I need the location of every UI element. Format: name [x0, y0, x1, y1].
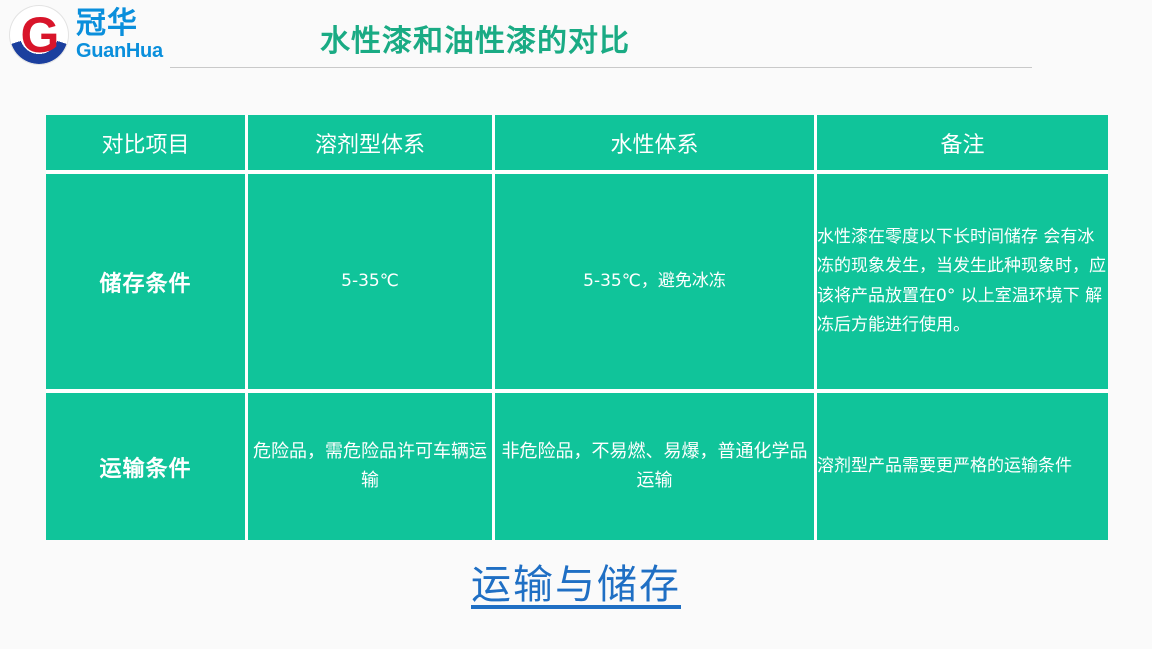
cell-transport-note: 溶剂型产品需要更严格的运输条件 [814, 389, 1108, 540]
slide-caption: 运输与储存 [0, 552, 1152, 610]
brand-name-en: GuanHua [76, 41, 163, 61]
table-row: 运输条件 危险品，需危险品许可车辆运输 非危险品，不易燃、易爆，普通化学品运输 … [46, 389, 1108, 540]
brand-name-cn: 冠华 [76, 9, 163, 39]
brand-logo: G 冠华 GuanHua [8, 4, 163, 66]
comparison-table: 对比项目 溶剂型体系 水性体系 备注 储存条件 5-35℃ 5-35℃，避免冰冻… [46, 115, 1108, 540]
column-header-solvent: 溶剂型体系 [245, 115, 492, 174]
table-row: 储存条件 5-35℃ 5-35℃，避免冰冻 水性漆在零度以下长时间储存 会有冰冻… [46, 174, 1108, 389]
slide-header: G 冠华 GuanHua 水性漆和油性漆的对比 [0, 0, 1152, 80]
page-title: 水性漆和油性漆的对比 [320, 16, 630, 60]
title-divider [170, 67, 1032, 68]
brand-wordmark: 冠华 GuanHua [76, 9, 163, 61]
cell-storage-solvent: 5-35℃ [245, 174, 492, 389]
logo-letter-g: G [8, 4, 70, 66]
column-header-item: 对比项目 [46, 115, 245, 174]
guanhua-circle-logo-icon: G [8, 4, 70, 66]
cell-storage-note: 水性漆在零度以下长时间储存 会有冰冻的现象发生，当发生此种现象时，应该将产品放置… [814, 174, 1108, 389]
table-header-row: 对比项目 溶剂型体系 水性体系 备注 [46, 115, 1108, 174]
row-label-storage: 储存条件 [46, 174, 245, 389]
row-label-transport: 运输条件 [46, 389, 245, 540]
cell-transport-solvent: 危险品，需危险品许可车辆运输 [245, 389, 492, 540]
column-header-waterborne: 水性体系 [492, 115, 814, 174]
caption-link-transport-storage[interactable]: 运输与储存 [471, 562, 681, 608]
column-header-note: 备注 [814, 115, 1108, 174]
cell-transport-waterborne: 非危险品，不易燃、易爆，普通化学品运输 [492, 389, 814, 540]
cell-storage-waterborne: 5-35℃，避免冰冻 [492, 174, 814, 389]
